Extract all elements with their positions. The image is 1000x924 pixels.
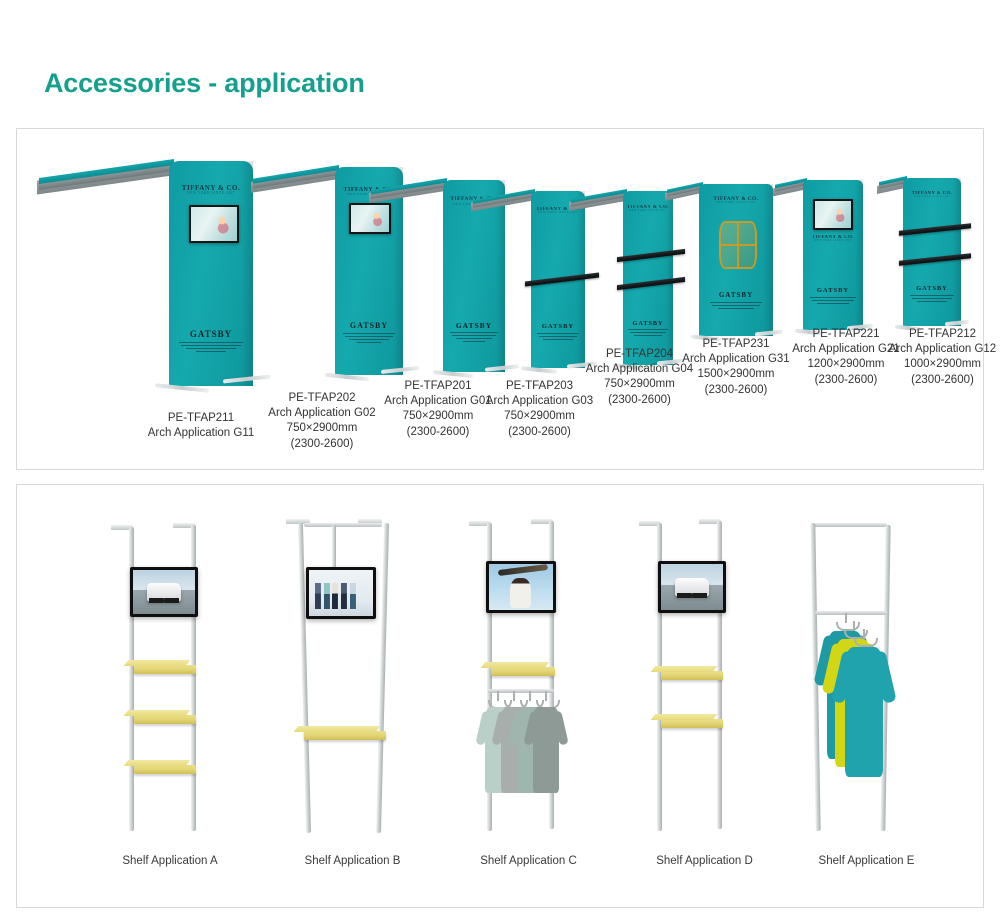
brand-blurb: [809, 297, 857, 306]
screen-artwork: [191, 207, 237, 241]
product-range: (2300-2600): [457, 425, 622, 440]
frame-post-right: [376, 523, 389, 833]
display-screen[interactable]: [189, 205, 239, 243]
screen-artwork: [815, 201, 851, 228]
screen-mount-post: [332, 525, 336, 571]
screen-artwork: [309, 570, 373, 616]
hanger-icon: [863, 629, 865, 639]
product-size: 1000×2900mm: [865, 357, 1000, 372]
wood-shelf: [304, 731, 386, 740]
screen-artwork: [661, 564, 723, 610]
shelf-caption-d: Shelf Application D: [627, 855, 782, 867]
page-title: Accessories - application: [44, 68, 365, 99]
display-screen[interactable]: [658, 561, 726, 613]
shelf-product-b[interactable]: [272, 503, 422, 833]
brand-lockup-top: TIFFANY & CO. NEW YORK SINCE 1837: [699, 197, 773, 205]
brand-blurb: [177, 342, 245, 354]
shelf-product-d[interactable]: [629, 503, 779, 833]
product-application: Arch Application G12: [865, 342, 1000, 357]
brand-footer: GATSBY: [169, 329, 253, 339]
brand-blurb: [709, 302, 763, 311]
page-root: Accessories - application TIFFANY & CO. …: [0, 0, 1000, 924]
arch-applications-panel: TIFFANY & CO. NEW YORK SINCE 1837 GATSBY…: [16, 128, 984, 470]
wood-shelf: [661, 671, 723, 680]
brand-tagline: NEW YORK SINCE 1837: [903, 196, 961, 199]
screen-artwork: [133, 570, 195, 614]
tshirt: [533, 707, 559, 793]
shelf-product-e[interactable]: [797, 503, 947, 833]
shelf-caption-e: Shelf Application E: [789, 855, 944, 867]
top-crossbar: [304, 523, 382, 527]
brand-tagline: NEW YORK SINCE 1837: [169, 192, 253, 196]
hanger-icon: [845, 613, 847, 623]
display-screen[interactable]: [130, 567, 198, 617]
product-size: 750×2900mm: [457, 409, 622, 424]
brand-footer: GATSBY: [699, 291, 773, 299]
display-screen[interactable]: [306, 567, 376, 619]
arch-product-1[interactable]: TIFFANY & CO. NEW YORK SINCE 1837 GATSBY: [37, 143, 257, 403]
shelf-caption-b: Shelf Application B: [275, 855, 430, 867]
shelf-caption-a: Shelf Application A: [95, 855, 245, 867]
shelf-caption-c: Shelf Application C: [451, 855, 606, 867]
brand-lockup-top: TIFFANY & CO. NEW YORK SINCE 1837: [803, 235, 863, 243]
hanger-icon: [545, 691, 547, 701]
brand-lockup-top: TIFFANY & CO. NEW YORK SINCE 1837: [169, 185, 253, 196]
garment-group: [819, 613, 897, 775]
wood-shelf: [134, 665, 196, 674]
gold-decoration: [719, 221, 757, 269]
arch-caption-8: PE-TFAP212 Arch Application G12 1000×290…: [865, 327, 1000, 388]
garment-group: [483, 691, 565, 803]
product-code: PE-TFAP212: [865, 327, 1000, 342]
brand-footer: GATSBY: [803, 287, 863, 294]
wood-shelf: [661, 719, 723, 728]
shelf-product-a[interactable]: [97, 503, 237, 833]
brand-tagline: NEW YORK SINCE 1837: [803, 240, 863, 243]
brand-footer: GATSBY: [903, 285, 961, 292]
display-screen[interactable]: [486, 561, 556, 613]
hanger-icon: [853, 621, 855, 631]
brand-lockup-top: TIFFANY & CO. NEW YORK SINCE 1837: [903, 191, 961, 198]
display-screen[interactable]: [813, 199, 853, 230]
hanger-icon: [513, 691, 515, 701]
brand-tagline: NEW YORK SINCE 1837: [699, 202, 773, 205]
screen-artwork: [489, 564, 553, 610]
wood-shelf: [134, 765, 196, 774]
hanger-icon: [497, 691, 499, 701]
shelf-product-c[interactable]: [457, 503, 607, 833]
wood-shelf: [134, 715, 196, 724]
shelf-applications-panel: Shelf Application A Shelf Application B: [16, 484, 984, 908]
hanger-icon: [529, 691, 531, 701]
tshirt: [845, 647, 883, 777]
top-crossbar: [815, 523, 887, 527]
wood-shelf: [491, 667, 555, 676]
brand-blurb: [909, 295, 955, 304]
product-range: (2300-2600): [865, 373, 1000, 388]
